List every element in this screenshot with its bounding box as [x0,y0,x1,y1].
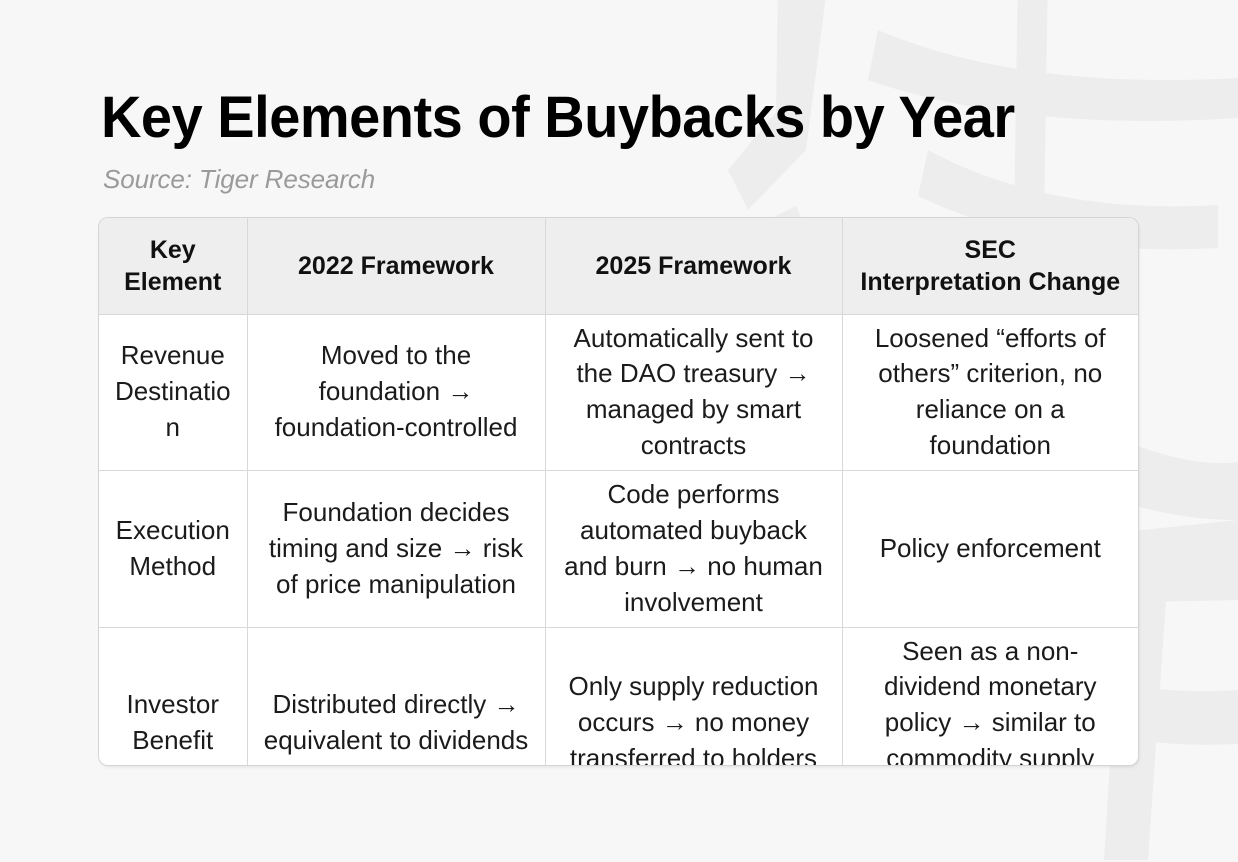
comparison-table: Key Element 2022 Framework 2025 Framewor… [99,218,1138,765]
cell-2025-execution-method: Code performs automated buyback and burn… [545,471,842,628]
table-row: Execution Method Foundation decides timi… [99,471,1138,628]
cell-2022-revenue-destination: Moved to the foundation → foundation-con… [247,314,545,471]
column-header-sec-change-line-2: Interpretation Change [857,266,1125,298]
table-header-row: Key Element 2022 Framework 2025 Framewor… [99,218,1138,314]
source-attribution: Source: Tiger Research [103,164,375,195]
cell-2025-investor-benefit: Only supply reduction occurs → no money … [545,627,842,765]
cell-2025-revenue-destination: Automatically sent to the DAO treasury →… [545,314,842,471]
cell-key-element-investor-benefit: Investor Benefit [99,627,247,765]
column-header-key-element: Key Element [99,218,247,314]
infographic-canvas: Key Elements of Buybacks by Year Source:… [0,0,1238,862]
table-header: Key Element 2022 Framework 2025 Framewor… [99,218,1138,314]
page-title: Key Elements of Buybacks by Year [101,89,1015,147]
table-row: Investor Benefit Distributed directly → … [99,627,1138,765]
cell-2022-execution-method: Foundation decides timing and size → ris… [247,471,545,628]
cell-2022-investor-benefit: Distributed directly → equivalent to div… [247,627,545,765]
column-header-framework-2025: 2025 Framework [545,218,842,314]
column-header-sec-change: SEC Interpretation Change [842,218,1138,314]
cell-key-element-execution-method: Execution Method [99,471,247,628]
column-header-framework-2025-line-1: 2025 Framework [560,250,828,282]
cell-sec-revenue-destination: Loosened “efforts of others” criterion, … [842,314,1138,471]
column-header-framework-2022-line-1: 2022 Framework [262,250,531,282]
column-header-key-element-line-2: Element [113,266,233,298]
column-header-framework-2022: 2022 Framework [247,218,545,314]
cell-sec-investor-benefit: Seen as a non-dividend monetary policy →… [842,627,1138,765]
cell-sec-execution-method: Policy enforcement [842,471,1138,628]
table-body: Revenue Destination Moved to the foundat… [99,314,1138,765]
column-header-sec-change-line-1: SEC [857,234,1125,266]
cell-key-element-revenue-destination: Revenue Destination [99,314,247,471]
table-row: Revenue Destination Moved to the foundat… [99,314,1138,471]
column-header-key-element-line-1: Key [113,234,233,266]
comparison-table-container: Key Element 2022 Framework 2025 Framewor… [99,218,1138,765]
